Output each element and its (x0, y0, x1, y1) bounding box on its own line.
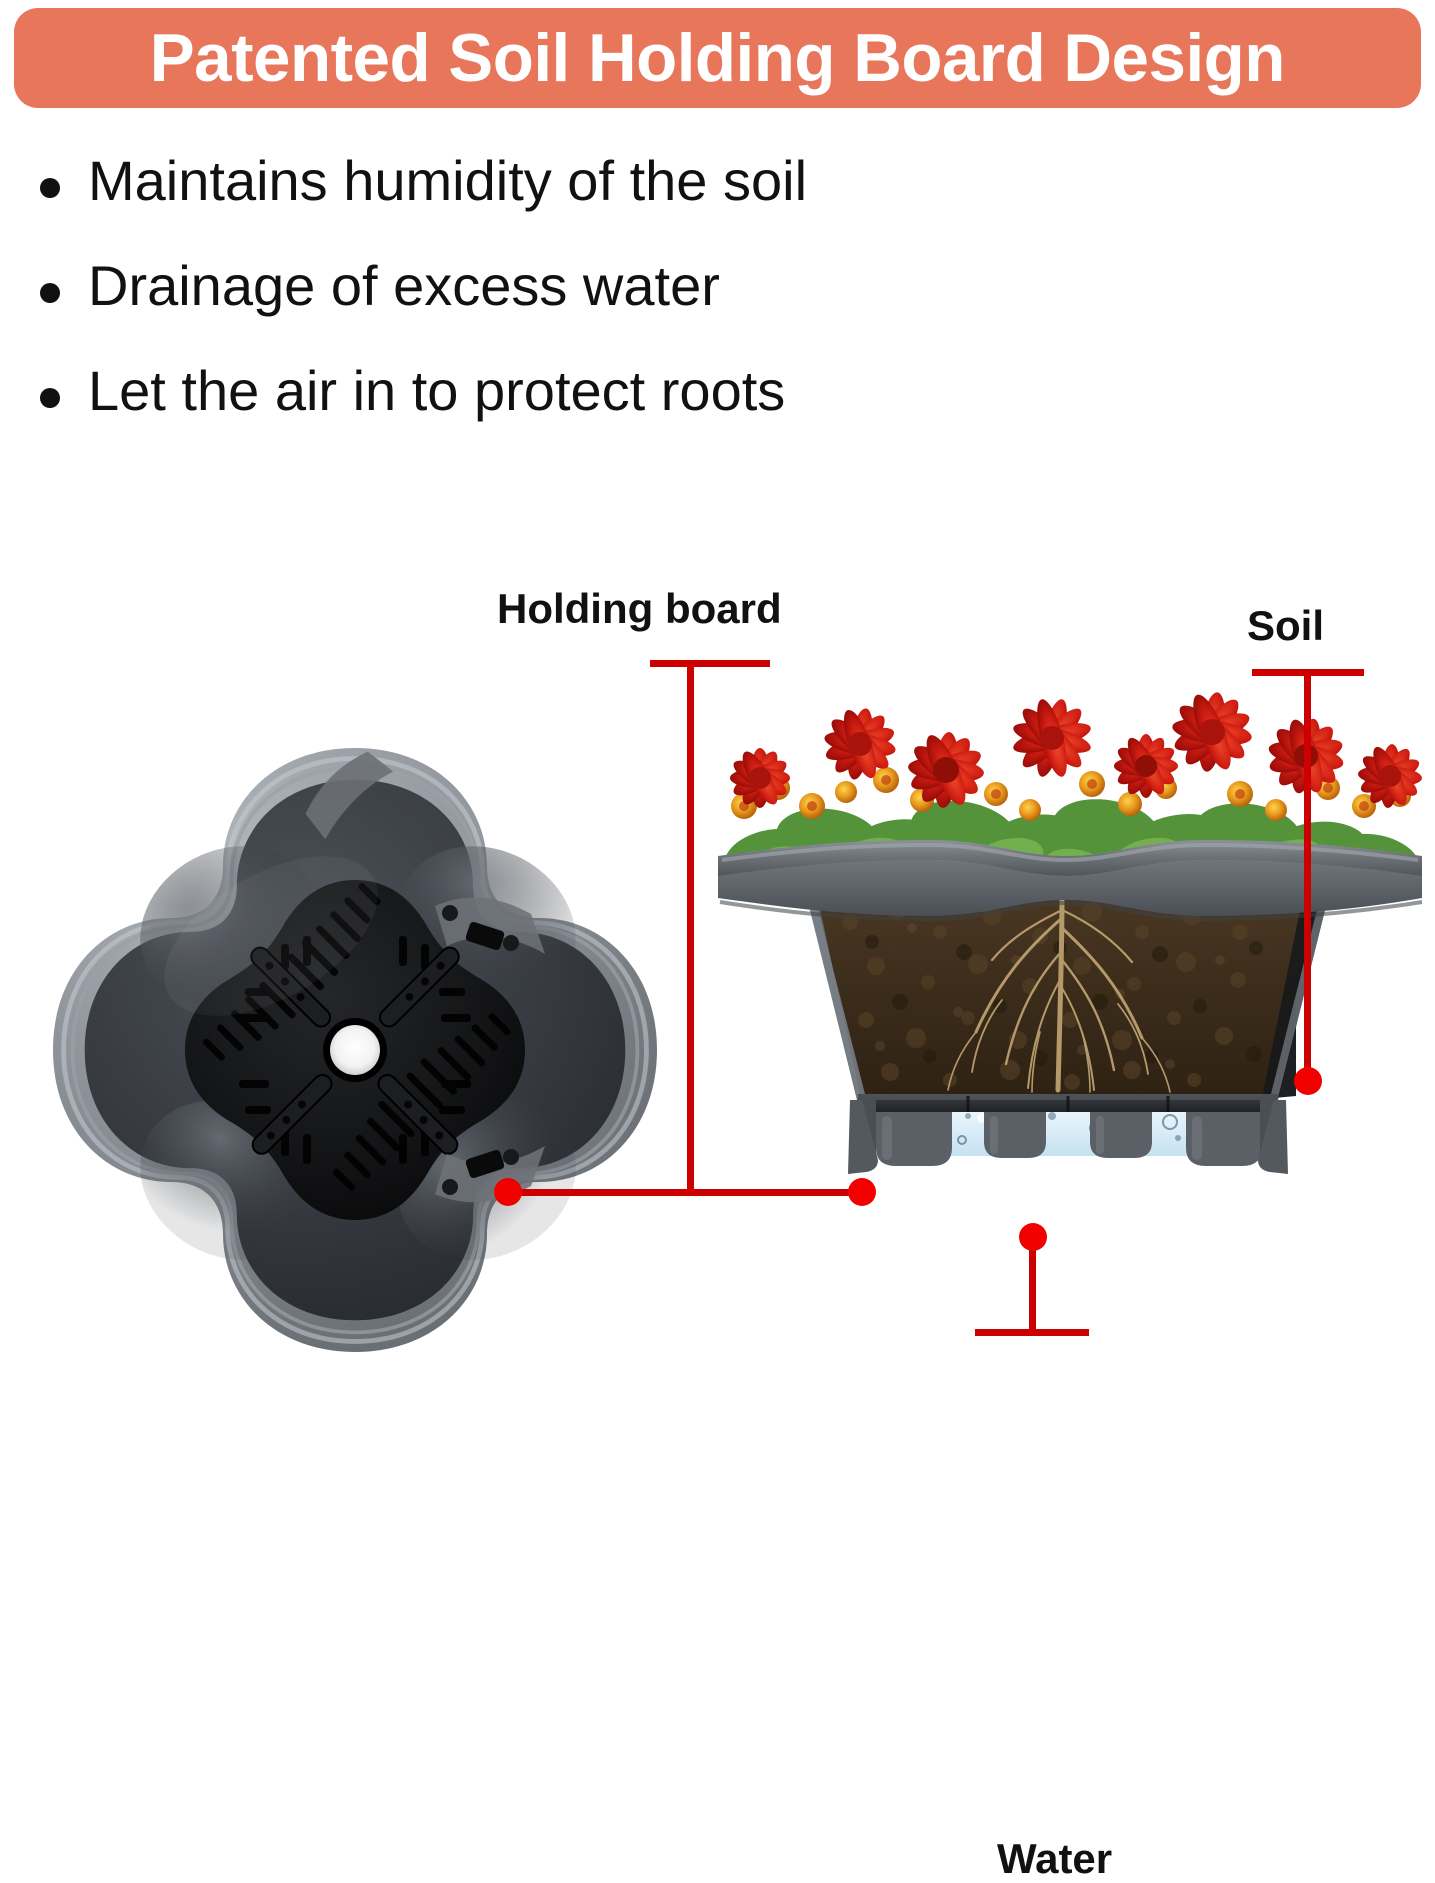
holding-board-marker-left (494, 1178, 522, 1206)
soil-marker (1294, 1067, 1322, 1095)
holding-board-marker-right (848, 1178, 876, 1206)
bullet-point-icon (40, 283, 60, 303)
center-drainage-hole (330, 1025, 380, 1075)
bullet-point-icon (40, 178, 60, 198)
callout-label-water: Water (997, 1835, 1112, 1883)
list-item: Let the air in to protect roots (40, 360, 1140, 465)
soil-fill (810, 896, 1325, 1106)
holding-board-cross-section (848, 1094, 1288, 1174)
feature-text: Drainage of excess water (88, 255, 720, 318)
holding-board-leader-stem (687, 660, 694, 1194)
product-diagram: Holding board Soil Water (0, 540, 1435, 1375)
list-item: Maintains humidity of the soil (40, 150, 1140, 255)
holding-board-leader-arm (508, 1189, 868, 1196)
header-banner: Patented Soil Holding Board Design (14, 8, 1421, 108)
cross-section-planter-illustration (700, 660, 1435, 1360)
water-marker (1019, 1223, 1047, 1251)
top-down-planter-illustration (35, 730, 675, 1370)
bullet-point-icon (40, 388, 60, 408)
holding-board-leader-cap (650, 660, 770, 667)
water-leader-stem (1029, 1236, 1036, 1336)
list-item: Drainage of excess water (40, 255, 1140, 360)
callout-label-holding-board: Holding board (497, 585, 782, 633)
soil-leader-stem (1304, 669, 1311, 1081)
feature-text: Maintains humidity of the soil (88, 150, 807, 213)
feature-list: Maintains humidity of the soil Drainage … (40, 150, 1140, 465)
page-title: Patented Soil Holding Board Design (150, 19, 1285, 97)
feature-text: Let the air in to protect roots (88, 360, 785, 423)
callout-label-soil: Soil (1247, 602, 1324, 650)
water-leader-cap (975, 1329, 1089, 1336)
